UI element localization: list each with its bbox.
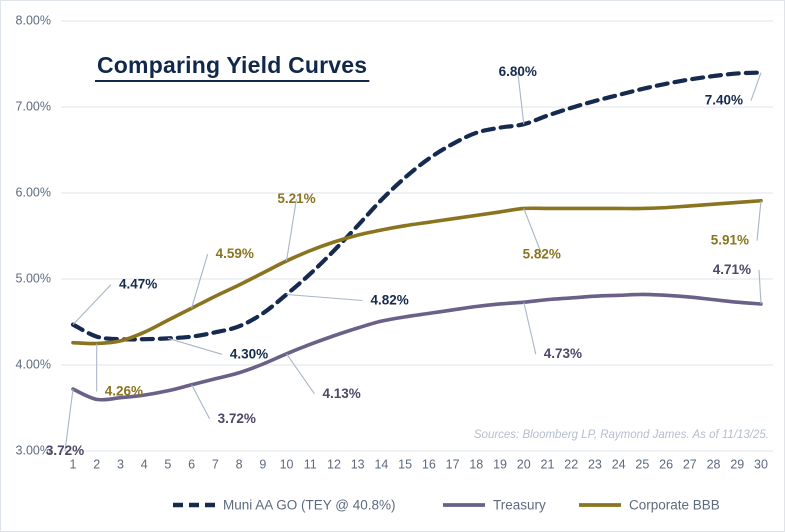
data-labels: 4.47%4.30%4.82%6.80%7.40%4.26%4.59%5.21%… bbox=[46, 64, 761, 458]
series-line-muni-aa-go-tey-40-8 bbox=[73, 73, 761, 340]
data-label: 4.26% bbox=[105, 384, 143, 399]
data-label: 6.80% bbox=[499, 64, 537, 79]
series-line-corporate-bbb bbox=[73, 201, 761, 344]
x-axis-tick-label: 9 bbox=[259, 457, 266, 471]
data-label: 4.82% bbox=[371, 292, 409, 307]
data-label: 5.82% bbox=[523, 246, 561, 261]
data-label-leader-line bbox=[751, 73, 761, 101]
data-label: 7.40% bbox=[705, 93, 743, 108]
chart-title-group: Comparing Yield Curves bbox=[95, 52, 369, 81]
x-axis-tick-label: 16 bbox=[422, 457, 436, 471]
y-axis-tick-label: 7.00% bbox=[16, 99, 51, 113]
x-axis-tick-label: 15 bbox=[398, 457, 412, 471]
data-label-leader-line bbox=[757, 201, 761, 241]
x-axis-tick-label: 2 bbox=[93, 457, 100, 471]
x-axis-tick-label: 7 bbox=[212, 457, 219, 471]
data-label-leader-line bbox=[65, 389, 73, 451]
x-axis-tick-label: 24 bbox=[612, 457, 626, 471]
data-label-leader-line bbox=[192, 385, 210, 419]
data-label-leader-line bbox=[73, 285, 111, 325]
x-axis-tick-label: 4 bbox=[141, 457, 148, 471]
yield-curve-chart: 8.00%7.00%6.00%5.00%4.00%3.00% 123456789… bbox=[1, 1, 785, 532]
data-label-leader-line bbox=[759, 270, 761, 304]
x-axis-tick-label: 10 bbox=[280, 457, 294, 471]
chart-card: 8.00%7.00%6.00%5.00%4.00%3.00% 123456789… bbox=[0, 0, 785, 532]
y-axis-tick-label: 5.00% bbox=[16, 271, 51, 285]
x-axis-tick-label: 3 bbox=[117, 457, 124, 471]
data-label: 3.72% bbox=[218, 411, 256, 426]
x-axis-tick-label: 22 bbox=[564, 457, 578, 471]
x-axis-tick-label: 14 bbox=[374, 457, 388, 471]
y-axis-tick-label: 8.00% bbox=[16, 13, 51, 27]
data-label: 3.72% bbox=[46, 443, 84, 458]
x-axis-tick-label: 23 bbox=[588, 457, 602, 471]
x-axis-tick-label: 11 bbox=[304, 457, 317, 471]
x-axis-tick-label: 20 bbox=[517, 457, 531, 471]
source-note: Sources: Bloomberg LP, Raymond James. As… bbox=[474, 429, 769, 441]
x-axis-tick-label: 6 bbox=[188, 457, 195, 471]
data-label-leader-line bbox=[287, 199, 297, 261]
x-axis-tick-label: 5 bbox=[164, 457, 171, 471]
legend-label[interactable]: Treasury bbox=[493, 498, 546, 513]
data-label-leader-line bbox=[287, 354, 315, 394]
x-axis-tick-label: 12 bbox=[327, 457, 341, 471]
data-label: 4.13% bbox=[323, 386, 361, 401]
x-axis-tick-labels: 1234567891011121314151617181920212223242… bbox=[70, 457, 768, 471]
data-label: 5.91% bbox=[711, 233, 749, 248]
legend-label[interactable]: Muni AA GO (TEY @ 40.8%) bbox=[223, 498, 396, 513]
series-lines bbox=[73, 73, 761, 400]
x-axis-tick-label: 30 bbox=[754, 457, 768, 471]
data-label: 5.21% bbox=[277, 191, 315, 206]
data-label: 4.73% bbox=[544, 346, 582, 361]
x-axis-tick-label: 21 bbox=[541, 457, 555, 471]
x-axis-tick-label: 19 bbox=[493, 457, 507, 471]
data-label-leader-line bbox=[524, 302, 536, 354]
legend-label[interactable]: Corporate BBB bbox=[629, 498, 720, 513]
page-title: Comparing Yield Curves bbox=[97, 52, 367, 78]
y-axis-tick-labels: 8.00%7.00%6.00%5.00%4.00%3.00% bbox=[16, 13, 51, 457]
x-axis-tick-label: 8 bbox=[236, 457, 243, 471]
data-label: 4.47% bbox=[119, 277, 157, 292]
x-axis-tick-label: 18 bbox=[469, 457, 483, 471]
x-axis-tick-label: 25 bbox=[635, 457, 649, 471]
data-label: 4.59% bbox=[216, 246, 254, 261]
data-label: 4.30% bbox=[230, 346, 268, 361]
x-axis-tick-label: 17 bbox=[446, 457, 460, 471]
x-axis-tick-label: 28 bbox=[707, 457, 721, 471]
x-axis-tick-label: 1 bbox=[70, 457, 77, 471]
series-line-treasury bbox=[73, 294, 761, 399]
x-axis-tick-label: 26 bbox=[659, 457, 673, 471]
data-label-leader-line bbox=[168, 338, 222, 354]
x-axis-tick-label: 27 bbox=[683, 457, 697, 471]
data-label-leader-line bbox=[287, 295, 363, 301]
data-label-leader-line bbox=[518, 72, 524, 124]
chart-legend[interactable]: Muni AA GO (TEY @ 40.8%)TreasuryCorporat… bbox=[173, 498, 720, 513]
y-axis-tick-label: 4.00% bbox=[16, 357, 51, 371]
x-axis-tick-label: 13 bbox=[351, 457, 365, 471]
y-axis-tick-label: 6.00% bbox=[16, 185, 51, 199]
data-label: 4.71% bbox=[713, 262, 751, 277]
x-axis-tick-label: 29 bbox=[730, 457, 744, 471]
